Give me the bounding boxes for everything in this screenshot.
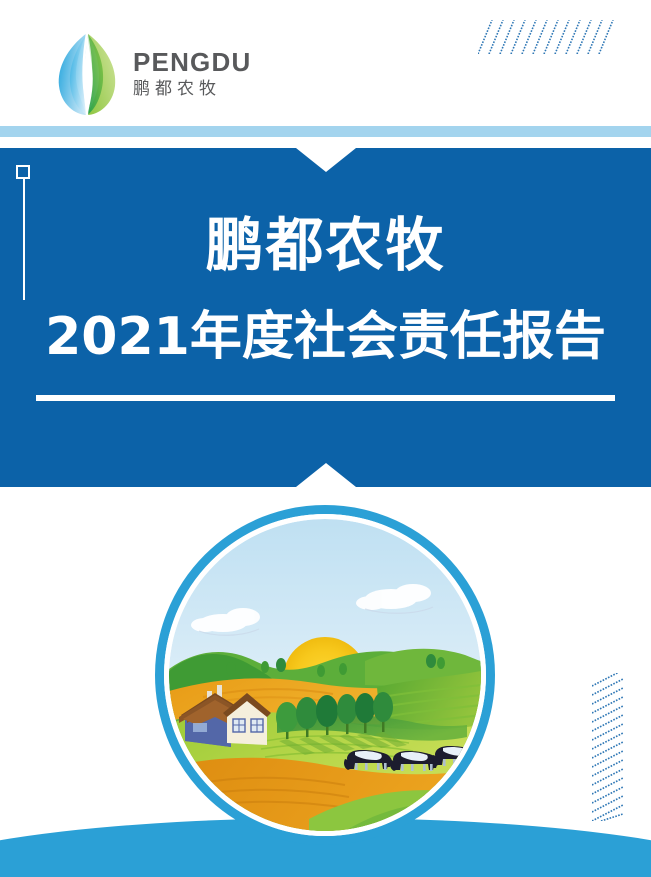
page-title: 鹏都农牧 (0, 215, 651, 276)
chevron-notch-top-icon (296, 148, 356, 172)
farm-landscape-circle (155, 505, 495, 845)
report-cover-page: PENGDU 鹏都农牧 鹏都 (0, 0, 651, 877)
brand-logo: PENGDU 鹏都农牧 (55, 28, 315, 120)
page-subtitle: 2021年度社会责任报告 (0, 310, 651, 365)
farm-scene (169, 519, 481, 831)
pengdu-leaf-logo-icon (55, 30, 119, 118)
diagonal-hatch-bottom-right-icon (592, 673, 628, 821)
brand-name-en: PENGDU (133, 49, 251, 76)
diagonal-hatch-top-right-icon (478, 20, 618, 54)
brand-name-cn: 鹏都农牧 (133, 81, 251, 99)
title-underline (36, 395, 615, 401)
brand-text: PENGDU 鹏都农牧 (133, 49, 251, 98)
chevron-notch-bottom-icon (296, 463, 356, 487)
light-blue-rule (0, 126, 651, 137)
square-marker-icon (16, 165, 30, 179)
